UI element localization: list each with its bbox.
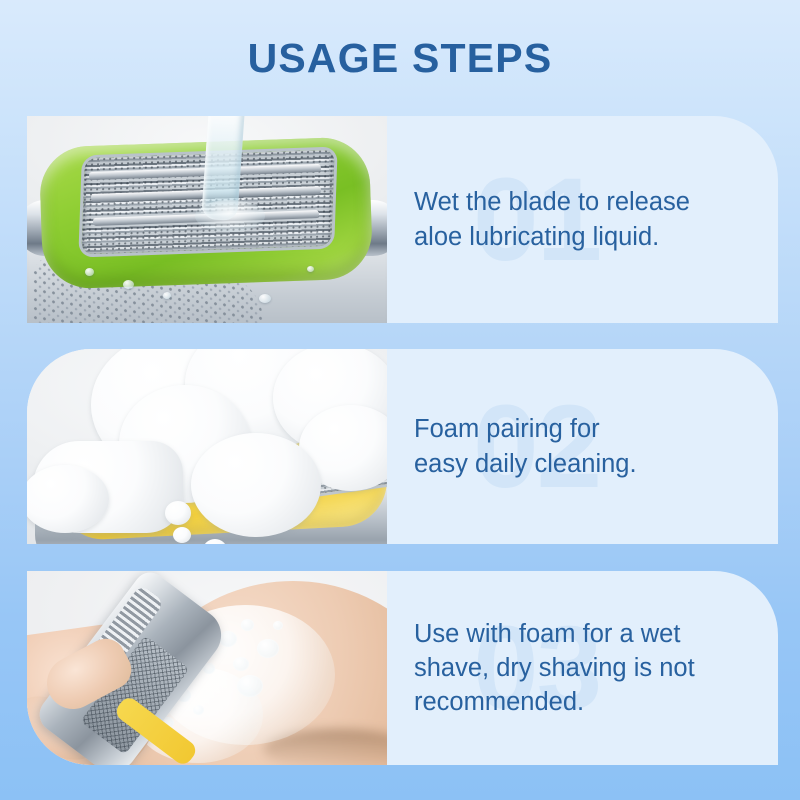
- foam-bubble: [273, 621, 283, 630]
- step-1-description: Wet the blade to release aloe lubricatin…: [414, 185, 690, 253]
- water-droplet: [123, 280, 134, 289]
- step-card-3: 03 Use with foam for a wet shave, dry sh…: [27, 571, 778, 765]
- step-3-description: Use with foam for a wet shave, dry shavi…: [414, 617, 695, 719]
- foam-bubble: [241, 619, 254, 631]
- step-2-image: [27, 349, 387, 544]
- foam-droplet: [173, 527, 191, 543]
- step-3-text-pane: 03 Use with foam for a wet shave, dry sh…: [387, 571, 778, 765]
- step-2-text-pane: 02 Foam pairing for easy daily cleaning.: [387, 349, 778, 544]
- foam-bubble: [257, 639, 279, 658]
- usage-steps-infographic: USAGE STEPS 01 Wet the blade to release …: [0, 0, 800, 800]
- foam-bubble: [219, 631, 237, 647]
- water-droplet: [259, 294, 271, 303]
- step-card-1: 01 Wet the blade to release aloe lubrica…: [27, 116, 778, 323]
- foam-bubble: [233, 657, 249, 671]
- foam-bubble: [193, 705, 204, 715]
- water-droplet: [307, 266, 314, 272]
- water-droplet: [163, 292, 171, 299]
- foam-bubble: [237, 675, 263, 697]
- water-droplet: [85, 268, 94, 276]
- step-1-text-pane: 01 Wet the blade to release aloe lubrica…: [387, 116, 778, 323]
- step-1-image: [27, 116, 387, 323]
- page-title: USAGE STEPS: [248, 35, 553, 82]
- step-card-2: 02 Foam pairing for easy daily cleaning.: [27, 349, 778, 544]
- water-splash: [195, 200, 265, 232]
- foam-droplet: [165, 501, 191, 525]
- foam-blob: [191, 433, 321, 537]
- page-header: USAGE STEPS: [0, 0, 800, 116]
- step-2-description: Foam pairing for easy daily cleaning.: [414, 412, 637, 480]
- step-3-image: [27, 571, 387, 765]
